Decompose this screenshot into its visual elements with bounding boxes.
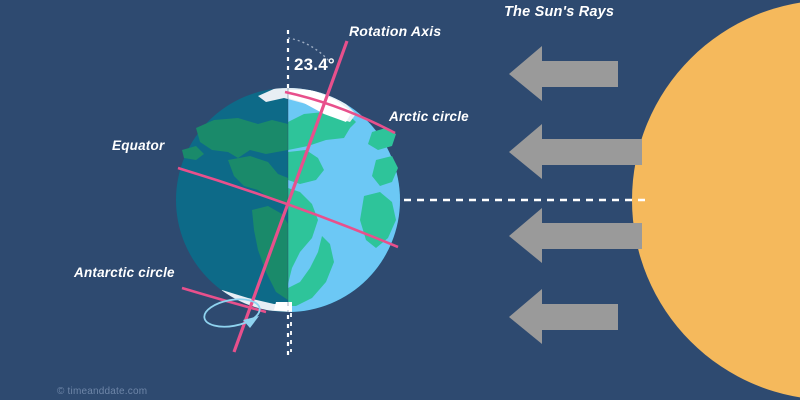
- label-rotation-axis: Rotation Axis: [349, 23, 441, 39]
- label-watermark: © timeanddate.com: [57, 386, 147, 397]
- label-equator: Equator: [112, 138, 164, 153]
- rotation-direction-indicator: [202, 295, 262, 330]
- ray-arrow-3: [509, 208, 642, 263]
- diagram-graphics: [0, 0, 800, 400]
- label-antarctic-circle: Antarctic circle: [74, 265, 175, 280]
- ray-arrow-2: [509, 124, 642, 179]
- label-arctic-circle: Arctic circle: [389, 109, 469, 124]
- label-tilt-angle: 23.4°: [294, 55, 335, 75]
- sun-ray-arrows: [509, 46, 642, 344]
- sun-disc: [632, 0, 800, 400]
- diagram-canvas: The Sun's Rays Rotation Axis 23.4° Arcti…: [0, 0, 800, 400]
- ray-arrow-4: [509, 289, 618, 344]
- ray-arrow-1: [509, 46, 618, 101]
- label-sun-rays: The Sun's Rays: [504, 4, 614, 20]
